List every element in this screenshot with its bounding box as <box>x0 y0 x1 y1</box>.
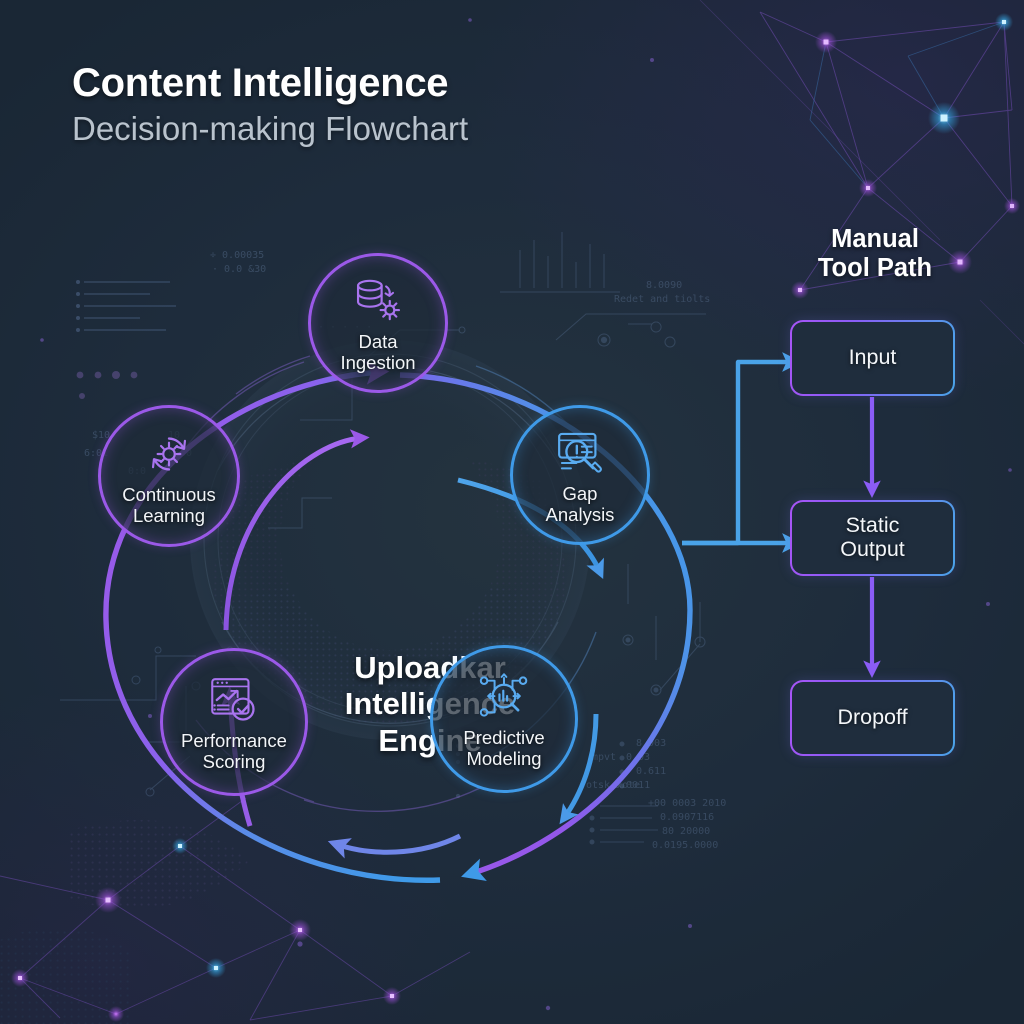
cycle-node-label: Gap Analysis <box>540 484 621 525</box>
cycle-node-label: Performance Scoring <box>175 731 293 772</box>
cycle-node-continuous-learning[interactable]: Continuous Learning <box>98 405 240 547</box>
cycle-node-gap-analysis[interactable]: Gap Analysis <box>510 405 650 545</box>
cycle-node-label: Data Ingestion <box>334 332 421 373</box>
label-line-2: Analysis <box>546 505 615 526</box>
cycle-node-predictive-modeling[interactable]: Predictive Modeling <box>430 645 578 793</box>
manual-path-arrows <box>760 315 1010 715</box>
diagram-canvas: ÷ 0.00035 · 0.0 &30 $1010 6:01$500 0:0 ·… <box>0 0 1024 1024</box>
cycle-node-label: Continuous Learning <box>116 485 222 526</box>
page-title: Content Intelligence <box>72 62 468 105</box>
chart-window-check-icon <box>205 671 263 729</box>
label-line-1: Gap <box>546 484 615 505</box>
label-line-1: Continuous <box>122 485 216 506</box>
header: Content Intelligence Decision-making Flo… <box>72 62 468 147</box>
manual-tool-path-panel: Manual Tool Path Input Static Output Dro… <box>760 225 1010 785</box>
cycle-node-data-ingestion[interactable]: Data Ingestion <box>308 253 448 393</box>
label-line-2: Ingestion <box>340 353 415 374</box>
cycle-diagram: Uploadkar Intelligence Engine Data Inges <box>40 180 740 900</box>
label-line-2: Learning <box>122 506 216 527</box>
cycle-node-performance-scoring[interactable]: Performance Scoring <box>160 648 308 796</box>
manual-tool-path-title: Manual Tool Path <box>760 225 990 283</box>
page-subtitle: Decision-making Flowchart <box>72 111 468 147</box>
edge-predictive-to-performance <box>336 836 460 852</box>
title-line-1: Manual <box>760 225 990 254</box>
label-line-1: Performance <box>181 731 287 752</box>
network-chart-magnifier-icon <box>475 668 533 726</box>
gear-refresh-icon <box>140 425 198 483</box>
database-gear-icon <box>349 272 407 330</box>
label-line-2: Scoring <box>181 752 287 773</box>
label-line-1: Data <box>340 332 415 353</box>
magnifier-alert-icon <box>551 424 609 482</box>
label-line-2: Modeling <box>463 749 544 770</box>
cycle-node-label: Predictive Modeling <box>457 728 550 769</box>
title-line-2: Tool Path <box>760 254 990 283</box>
label-line-1: Predictive <box>463 728 544 749</box>
